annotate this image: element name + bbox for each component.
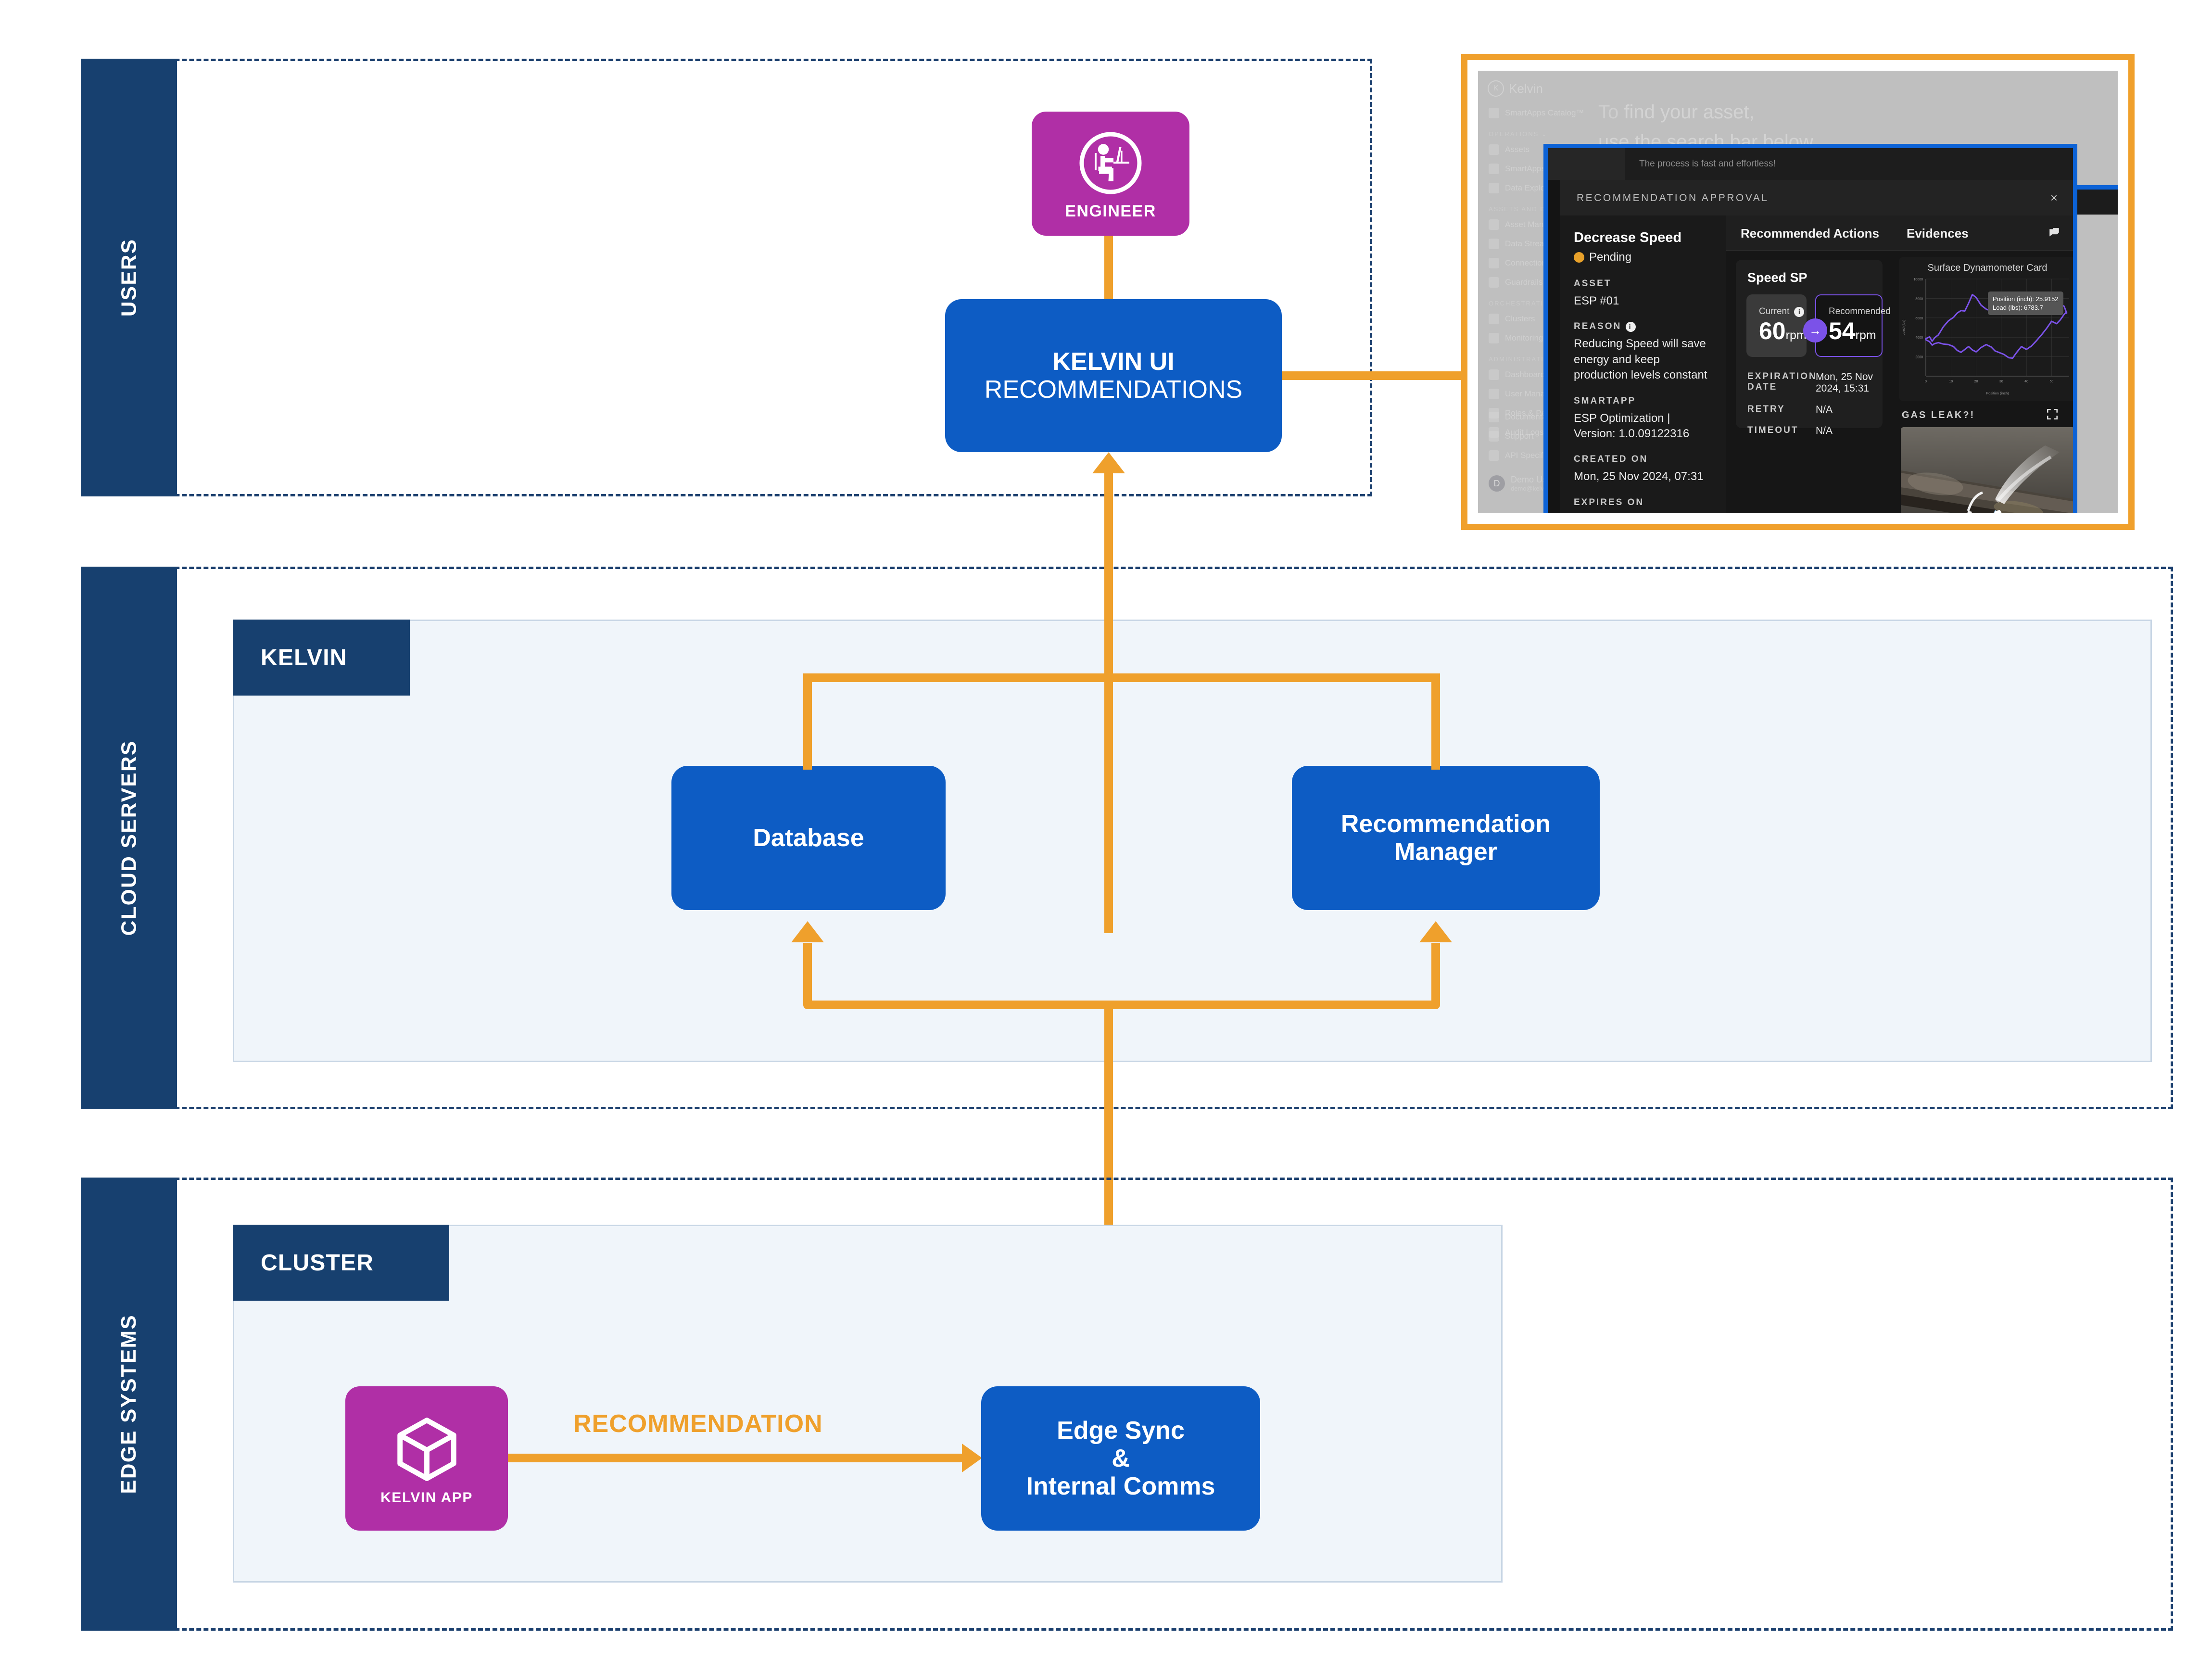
arrow-app-to-edgesync	[962, 1444, 982, 1472]
chart-tooltip: Position (inch): 25.9152 Load (lbs): 678…	[1988, 292, 2063, 315]
modal-right-column: Evidences Surface Dynamometer Card 20004…	[1892, 215, 2073, 513]
nav-icon	[1489, 183, 1499, 193]
screenshot-frame: K Kelvin SmartApps Catalog™OPERATIONS ⌄A…	[1461, 54, 2135, 530]
nav-icon	[1489, 108, 1499, 118]
field-value: ESP Optimization | Version: 1.0.09122316	[1574, 411, 1713, 442]
modal-header: RECOMMENDATION APPROVAL ×	[1560, 180, 2073, 215]
current-value: 60rpm	[1759, 317, 1807, 345]
recommendation-heading: Decrease Speed	[1574, 230, 1713, 246]
field-value: Reducing Speed will save energy and keep…	[1574, 336, 1713, 383]
modal-strip-text: The process is fast and effortless!	[1639, 159, 1776, 169]
svg-text:4000: 4000	[1915, 336, 1923, 340]
nav-icon	[1489, 239, 1499, 249]
connector-bottom-bus	[803, 1001, 1440, 1009]
modal-panel: RECOMMENDATION APPROVAL × Decrease Speed…	[1560, 180, 2073, 513]
evidences-title: Evidences	[1907, 226, 1969, 241]
node-rm-line1: Recommendation	[1341, 810, 1551, 838]
lane-tab-cloud: CLOUD SERVERS	[81, 567, 177, 1109]
connector-app-to-edgesync	[508, 1454, 970, 1462]
hero-line1: find your asset,	[1618, 101, 1754, 123]
group-kelvin-header: KELVIN	[233, 620, 410, 696]
sidebar-item-label: SmartApps Catalog™	[1505, 108, 1584, 118]
lane-label-edge: EDGE SYSTEMS	[117, 1314, 141, 1494]
sidebar-item-label: Clusters	[1505, 314, 1535, 324]
meta-label: RETRY	[1747, 404, 1816, 416]
nav-icon	[1489, 258, 1499, 268]
nav-icon	[1489, 277, 1499, 288]
sidebar-section-1: OPERATIONS ⌄	[1478, 123, 1589, 140]
current-label-row: Current i	[1759, 306, 1807, 317]
evidence-chart-card: Surface Dynamometer Card 200040006000800…	[1899, 257, 2073, 401]
gas-leak-photo	[1901, 427, 2073, 513]
field-value: Mon, 25 Nov 2024, 07:31	[1574, 469, 1713, 484]
node-kelvin-app-label: KELVIN APP	[380, 1490, 473, 1506]
svg-text:8000: 8000	[1915, 297, 1923, 301]
sidebar-item-label: Monitoring	[1505, 333, 1543, 343]
nav-icon	[1489, 144, 1499, 155]
field-label: REASON i	[1574, 321, 1713, 332]
node-engineer[interactable]: ENGINEER	[1032, 112, 1189, 236]
svg-text:40: 40	[2024, 380, 2028, 383]
close-icon[interactable]: ×	[2050, 190, 2058, 205]
nav-icon	[1489, 369, 1499, 380]
app-brand: K Kelvin	[1478, 71, 1589, 97]
meta-value: Mon, 25 Nov 2024, 15:31	[1816, 371, 1874, 394]
modal-left-column: Decrease Speed Pending ASSETESP #01REASO…	[1560, 215, 1727, 513]
meta-value: N/A	[1816, 425, 1833, 437]
arrow-to-recommendation-manager	[1419, 921, 1452, 942]
node-kelvin-ui-line1: KELVIN UI	[1052, 348, 1174, 376]
connector-bus-to-ui-vertical	[1104, 673, 1113, 933]
diagram-canvas: USERS ENGINEER KELVIN UI RECOMMENDATIONS	[0, 0, 2212, 1673]
connector-ui-to-screenshot	[1282, 371, 1465, 380]
sidebar-item-label: Guardrails	[1505, 278, 1542, 287]
field-label: CREATED ON	[1574, 454, 1713, 465]
engineer-at-desk-icon	[1074, 127, 1147, 199]
svg-text:Load (lbs): Load (lbs)	[1901, 319, 1906, 336]
nav-icon	[1489, 314, 1499, 324]
tooltip-x: Position (inch): 25.9152	[1993, 295, 2059, 304]
node-rm-line2: Manager	[1394, 838, 1497, 866]
nav-icon	[1489, 219, 1499, 230]
group-cluster-label: CLUSTER	[261, 1250, 374, 1276]
detail-field-2: SMARTAPPESP Optimization | Version: 1.0.…	[1574, 396, 1713, 442]
node-edge-sync-line1: Edge Sync	[1057, 1417, 1185, 1445]
lane-tab-edge: EDGE SYSTEMS	[81, 1178, 177, 1631]
sidebar-item-label: Assets	[1505, 145, 1529, 154]
info-icon[interactable]: i	[1794, 307, 1804, 317]
action-meta-2: TIMEOUTN/A	[1747, 425, 1874, 437]
modal-top-strip: The process is fast and effortless!	[1548, 148, 2073, 180]
svg-text:10000: 10000	[1914, 278, 1923, 281]
modal-tab	[1548, 148, 1625, 180]
field-label: SMARTAPP	[1574, 396, 1713, 406]
connector-db-up	[803, 673, 812, 770]
group-kelvin-label: KELVIN	[261, 645, 347, 671]
svg-text:50: 50	[2050, 380, 2054, 383]
speed-sp-card: Speed SP Current i 60rpm →	[1736, 260, 1883, 428]
nav-icon	[1489, 333, 1499, 343]
node-engineer-label: ENGINEER	[1065, 202, 1156, 221]
detail-field-3: CREATED ONMon, 25 Nov 2024, 07:31	[1574, 454, 1713, 484]
recommended-actions-title: Recommended Actions	[1741, 226, 1879, 241]
connector-rm-up	[1431, 673, 1440, 770]
lane-label-users: USERS	[117, 239, 141, 317]
nav-icon	[1489, 164, 1499, 174]
current-value-box: Current i 60rpm	[1746, 294, 1807, 357]
nav-icon	[1489, 450, 1499, 461]
node-edge-sync-line3: Internal Comms	[1026, 1472, 1215, 1500]
field-value: ESP #01	[1574, 293, 1713, 309]
info-icon[interactable]: i	[1626, 322, 1636, 332]
recommendation-status: Pending	[1589, 251, 1631, 264]
recommended-label: Recommended	[1829, 306, 1891, 317]
speed-sp-title: Speed SP	[1736, 260, 1883, 285]
sidebar-item-label: Support	[1505, 431, 1534, 441]
sidebar-item-0[interactable]: SmartApps Catalog™	[1478, 103, 1589, 123]
meta-label: EXPIRATION DATE	[1747, 371, 1816, 394]
modal-title: RECOMMENDATION APPROVAL	[1577, 192, 1769, 204]
field-label: ASSET	[1574, 279, 1713, 289]
connector-db-down	[803, 943, 812, 1005]
surface-dynamometer-chart: 20004000600080001000001020304050Position…	[1899, 272, 2073, 397]
screenshot-app-window: K Kelvin SmartApps Catalog™OPERATIONS ⌄A…	[1478, 71, 2118, 513]
tooltip-y: Load (lbs): 6783.7	[1993, 304, 2059, 312]
group-cluster-header: CLUSTER	[233, 1225, 449, 1301]
transition-arrow-icon: →	[1803, 318, 1827, 342]
svg-text:0: 0	[1925, 380, 1927, 383]
nav-icon	[1489, 389, 1499, 399]
node-database-label: Database	[753, 824, 864, 852]
arrow-to-database	[791, 921, 824, 942]
evidences-header: Evidences	[1892, 215, 2073, 251]
node-recommendation-manager[interactable]: Recommendation Manager	[1292, 766, 1600, 910]
detail-field-1: REASON iReducing Speed will save energy …	[1574, 321, 1713, 383]
kelvin-logo-icon: K	[1488, 80, 1504, 97]
expand-icon[interactable]	[2046, 408, 2059, 423]
node-kelvin-ui[interactable]: KELVIN UI RECOMMENDATIONS	[945, 299, 1282, 452]
detail-field-0: ASSETESP #01	[1574, 279, 1713, 309]
cube-icon	[390, 1411, 464, 1486]
modal-center-column: Recommended Actions Speed SP Current i	[1726, 215, 1893, 513]
action-meta-1: RETRYN/A	[1747, 404, 1874, 416]
action-meta-0: EXPIRATION DATEMon, 25 Nov 2024, 15:31	[1747, 371, 1874, 394]
svg-text:20: 20	[1974, 380, 1978, 383]
svg-text:Position (inch): Position (inch)	[1986, 391, 2009, 395]
connector-recommendation-label: RECOMMENDATION	[573, 1409, 823, 1438]
connector-rm-down	[1431, 943, 1440, 1005]
hero-line1-strong: To	[1598, 101, 1618, 123]
group-kelvin	[233, 620, 2152, 1062]
connector-top-bus	[803, 673, 1440, 682]
recommended-label-row: Recommended i	[1829, 306, 1882, 317]
sidebar-item-label: Dashboard	[1505, 370, 1545, 380]
field-value: Mon, 25 Nov 2024, 15:31	[1574, 512, 1713, 513]
node-kelvin-ui-line2: RECOMMENDATIONS	[985, 376, 1242, 404]
nav-icon	[1489, 431, 1499, 442]
nav-icon	[1489, 412, 1499, 422]
svg-text:2000: 2000	[1915, 356, 1923, 359]
recommended-actions-header: Recommended Actions	[1726, 215, 1892, 251]
recommended-value: 54rpm	[1829, 317, 1882, 345]
connector-engineer-to-ui	[1104, 236, 1113, 299]
pending-status-icon	[1574, 252, 1584, 263]
arrow-bus-to-ui	[1092, 452, 1125, 473]
node-edge-sync-line2: &	[1112, 1445, 1130, 1472]
detail-field-4: EXPIRES ONMon, 25 Nov 2024, 15:31	[1574, 497, 1713, 513]
current-label: Current	[1759, 306, 1789, 317]
comment-icon[interactable]	[2048, 227, 2060, 243]
meta-label: TIMEOUT	[1747, 425, 1816, 437]
svg-text:30: 30	[1999, 380, 2003, 383]
node-database[interactable]: Database	[671, 766, 946, 910]
svg-text:10: 10	[1949, 380, 1953, 383]
gas-leak-title: GAS LEAK?!	[1902, 410, 1975, 421]
connector-bus-to-ui-vertical-upper	[1104, 473, 1113, 680]
svg-text:6000: 6000	[1915, 317, 1923, 320]
field-label: EXPIRES ON	[1574, 497, 1713, 508]
recommendation-approval-modal: The process is fast and effortless! RECO…	[1543, 144, 2077, 513]
lane-tab-users: USERS	[81, 59, 177, 496]
node-kelvin-app[interactable]: KELVIN APP	[345, 1386, 508, 1531]
avatar: D	[1489, 475, 1505, 492]
node-edge-sync[interactable]: Edge Sync & Internal Comms	[981, 1386, 1260, 1531]
app-brand-label: Kelvin	[1509, 81, 1543, 96]
lane-label-cloud: CLOUD SERVERS	[117, 740, 141, 936]
meta-value: N/A	[1816, 404, 1833, 416]
